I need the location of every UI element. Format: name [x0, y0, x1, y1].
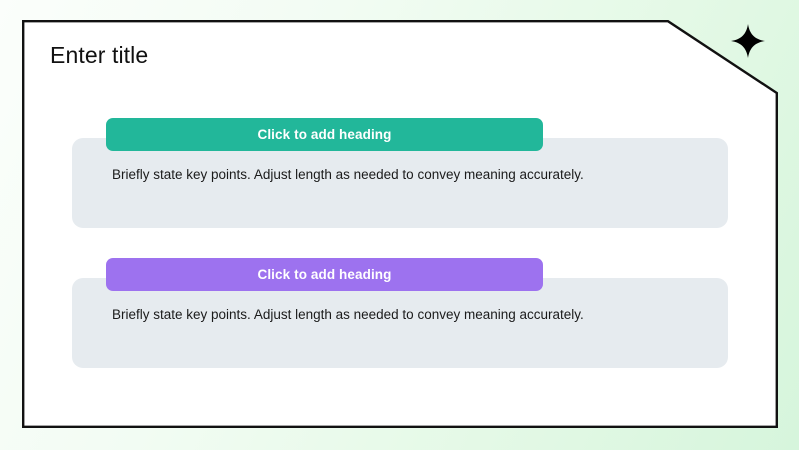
- page-title[interactable]: Enter title: [50, 42, 148, 69]
- heading-placeholder-1[interactable]: Click to add heading: [106, 118, 543, 151]
- slide-canvas: Enter title Click to add heading Briefly…: [0, 0, 799, 450]
- slide-content: Enter title Click to add heading Briefly…: [22, 20, 778, 428]
- heading-placeholder-2[interactable]: Click to add heading: [106, 258, 543, 291]
- body-placeholder-2[interactable]: Briefly state key points. Adjust length …: [112, 306, 702, 324]
- body-placeholder-1[interactable]: Briefly state key points. Adjust length …: [112, 166, 702, 184]
